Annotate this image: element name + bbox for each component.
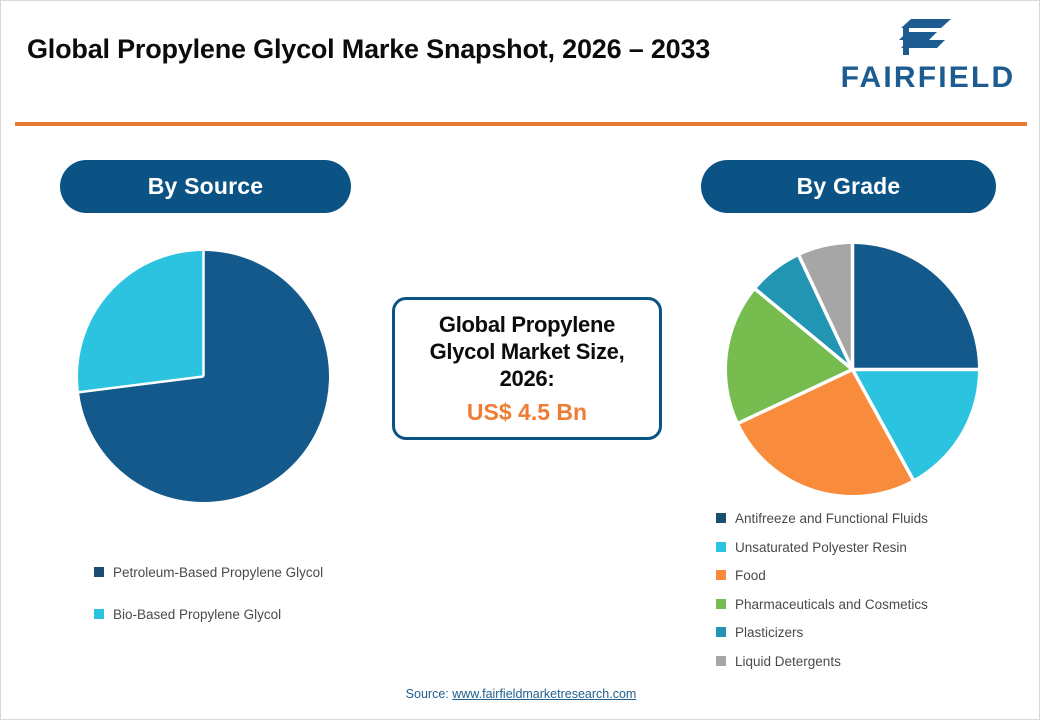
- legend-label: Food: [735, 566, 766, 586]
- legend-item: Antifreeze and Functional Fluids: [716, 509, 1016, 529]
- legend-item: Liquid Detergents: [716, 652, 1016, 672]
- section-pill-by-grade: By Grade: [701, 160, 996, 213]
- header: Global Propylene Glycol Marke Snapshot, …: [1, 1, 1040, 123]
- legend-label: Liquid Detergents: [735, 652, 841, 672]
- legend-item: Pharmaceuticals and Cosmetics: [716, 595, 1016, 615]
- infographic-canvas: Global Propylene Glycol Marke Snapshot, …: [0, 0, 1040, 720]
- callout-title: Global Propylene Glycol Market Size, 202…: [405, 311, 649, 393]
- legend-by-grade: Antifreeze and Functional FluidsUnsatura…: [716, 509, 1016, 680]
- fairfield-wordmark: FAIRFIELD: [833, 61, 1023, 95]
- section-pill-by-source: By Source: [60, 160, 351, 213]
- callout-value: US$ 4.5 Bn: [467, 399, 587, 426]
- source-footer: Source: www.fairfieldmarketresearch.com: [1, 687, 1040, 701]
- source-url-link[interactable]: www.fairfieldmarketresearch.com: [452, 687, 636, 701]
- legend-label: Pharmaceuticals and Cosmetics: [735, 595, 928, 615]
- pie-slice-dividers: [78, 251, 329, 502]
- legend-item: Petroleum-Based Propylene Glycol: [94, 563, 349, 583]
- legend-item: Plasticizers: [716, 623, 1016, 643]
- fairfield-logo: FAIRFIELD: [833, 15, 1023, 101]
- legend-swatch-icon: [716, 542, 726, 552]
- legend-swatch-icon: [716, 656, 726, 666]
- legend-by-source: Petroleum-Based Propylene GlycolBio-Base…: [94, 563, 349, 646]
- pie-chart-by-grade: [727, 244, 978, 495]
- legend-item: Unsaturated Polyester Resin: [716, 538, 1016, 558]
- source-prefix: Source:: [406, 687, 453, 701]
- pie-chart-by-source: [78, 251, 329, 502]
- legend-label: Antifreeze and Functional Fluids: [735, 509, 928, 529]
- legend-swatch-icon: [716, 627, 726, 637]
- legend-label: Petroleum-Based Propylene Glycol: [113, 563, 323, 583]
- legend-swatch-icon: [716, 570, 726, 580]
- page-title: Global Propylene Glycol Marke Snapshot, …: [27, 31, 727, 67]
- legend-label: Plasticizers: [735, 623, 803, 643]
- legend-swatch-icon: [716, 599, 726, 609]
- market-size-callout: Global Propylene Glycol Market Size, 202…: [392, 297, 662, 440]
- legend-item: Bio-Based Propylene Glycol: [94, 605, 349, 625]
- fairfield-logo-mark: [893, 17, 955, 57]
- legend-label: Bio-Based Propylene Glycol: [113, 605, 281, 625]
- legend-item: Food: [716, 566, 1016, 586]
- legend-swatch-icon: [94, 567, 104, 577]
- legend-label: Unsaturated Polyester Resin: [735, 538, 907, 558]
- legend-swatch-icon: [94, 609, 104, 619]
- pie-slice-dividers: [727, 244, 978, 495]
- legend-swatch-icon: [716, 513, 726, 523]
- header-divider: [15, 122, 1027, 126]
